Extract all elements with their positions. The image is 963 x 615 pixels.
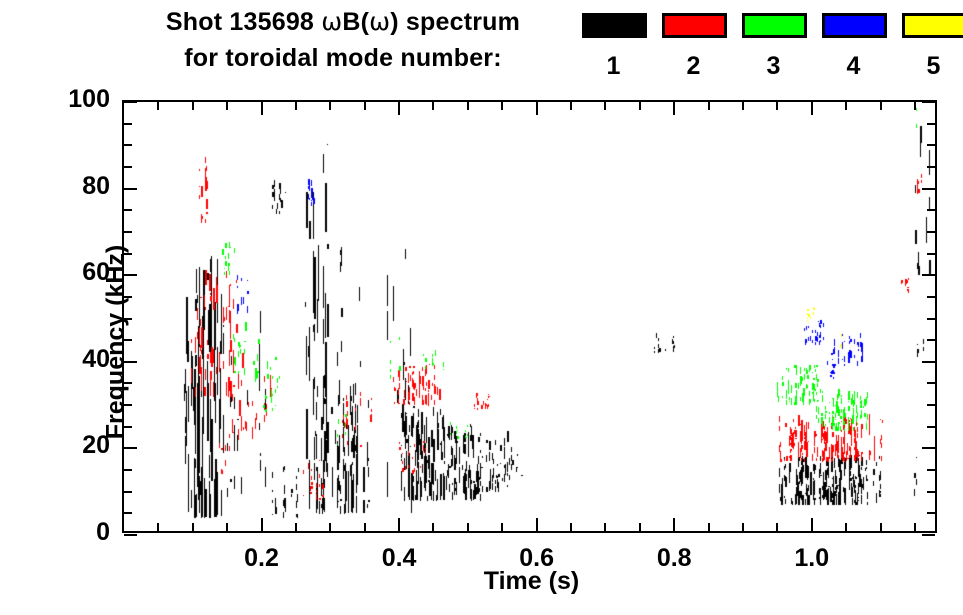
- y-tick-95: [124, 123, 132, 125]
- x-tick-0.5: [467, 523, 469, 531]
- y-tick-right-50: [927, 318, 935, 320]
- x-tick-0.15: [226, 523, 228, 531]
- y-tick-right-25: [927, 426, 935, 428]
- x-tick-top-0.9: [742, 102, 744, 110]
- legend-item-4: 4: [822, 13, 885, 81]
- title-line-2: for toroidal mode number:: [108, 40, 578, 76]
- x-tick-top-0.45: [432, 102, 434, 110]
- y-tick-label-0: 0: [20, 518, 110, 547]
- plot-area: [124, 102, 935, 531]
- title-spectrum-text: ) spectrum: [390, 8, 520, 36]
- omega-symbol-2: ω: [369, 7, 390, 36]
- figure-title: Shot 135698 ωB(ω) spectrum for toroidal …: [108, 4, 578, 76]
- x-tick-top-1.05: [845, 102, 847, 110]
- y-tick-85: [124, 166, 132, 168]
- y-tick-label-60: 60: [20, 258, 110, 287]
- spectrogram-figure: Shot 135698 ωB(ω) spectrum for toroidal …: [0, 0, 963, 615]
- y-tick-right-80: [922, 188, 935, 190]
- x-tick-top-0.05: [157, 102, 159, 110]
- legend-swatch-3: [742, 13, 807, 38]
- x-tick-top-0.3: [329, 102, 331, 110]
- x-tick-0.7: [604, 523, 606, 531]
- y-tick-15: [124, 469, 132, 471]
- y-tick-right-15: [927, 469, 935, 471]
- y-tick-right-95: [927, 123, 935, 125]
- legend-swatch-2: [662, 13, 727, 38]
- x-tick-top-0.4: [398, 102, 400, 115]
- legend-item-3: 3: [742, 13, 805, 81]
- x-tick-top-0.75: [639, 102, 641, 110]
- x-tick-top-0.8: [673, 102, 675, 115]
- mode-number-legend: 12345: [582, 13, 963, 81]
- x-tick-top-0.25: [295, 102, 297, 110]
- y-tick-80: [124, 188, 137, 190]
- x-tick-top-0.15: [226, 102, 228, 110]
- x-tick-top-0.55: [501, 102, 503, 110]
- y-tick-75: [124, 209, 132, 211]
- x-tick-0.95: [776, 523, 778, 531]
- x-tick-top-0.1: [192, 102, 194, 110]
- x-tick-0.6: [536, 518, 538, 531]
- legend-label-2: 2: [662, 52, 725, 81]
- y-tick-right-0: [922, 534, 935, 536]
- x-tick-top-0.2: [261, 102, 263, 115]
- y-tick-right-75: [927, 209, 935, 211]
- y-tick-right-20: [922, 447, 935, 449]
- y-tick-right-40: [922, 361, 935, 363]
- legend-swatch-5: [902, 13, 963, 38]
- x-tick-0.35: [364, 523, 366, 531]
- x-tick-0.8: [673, 518, 675, 531]
- x-tick-0.9: [742, 523, 744, 531]
- x-tick-top-1.1: [880, 102, 882, 110]
- x-tick-top-0.85: [708, 102, 710, 110]
- x-tick-0.4: [398, 518, 400, 531]
- x-tick-top-1: [811, 102, 813, 115]
- x-tick-0.75: [639, 523, 641, 531]
- spectrogram-canvas: [124, 102, 935, 531]
- x-tick-top-0.5: [467, 102, 469, 110]
- legend-label-4: 4: [822, 52, 885, 81]
- legend-label-3: 3: [742, 52, 805, 81]
- y-tick-right-100: [922, 101, 935, 103]
- x-tick-0.25: [295, 523, 297, 531]
- x-tick-0.2: [261, 518, 263, 531]
- y-tick-100: [124, 101, 137, 103]
- y-tick-10: [124, 491, 132, 493]
- title-line-1: Shot 135698 ωB(ω) spectrum: [108, 4, 578, 40]
- x-tick-top-0.6: [536, 102, 538, 115]
- legend-swatch-1: [582, 13, 647, 38]
- x-tick-0.85: [708, 523, 710, 531]
- x-tick-0.3: [329, 523, 331, 531]
- x-tick-1.1: [880, 523, 882, 531]
- title-b-text: B(: [342, 8, 369, 36]
- y-tick-0: [124, 534, 137, 536]
- x-tick-top-0.35: [364, 102, 366, 110]
- x-tick-0.55: [501, 523, 503, 531]
- y-tick-label-100: 100: [20, 85, 110, 114]
- x-tick-top-0.7: [604, 102, 606, 110]
- omega-symbol: ω: [321, 7, 342, 36]
- y-tick-right-60: [922, 274, 935, 276]
- x-axis-title: Time (s): [124, 567, 939, 596]
- y-tick-right-30: [927, 404, 935, 406]
- x-tick-top-0.95: [776, 102, 778, 110]
- y-tick-right-70: [927, 231, 935, 233]
- legend-swatch-4: [822, 13, 887, 38]
- y-tick-20: [124, 447, 137, 449]
- x-tick-1.05: [845, 523, 847, 531]
- legend-label-1: 1: [582, 52, 645, 81]
- legend-label-5: 5: [902, 52, 963, 81]
- y-tick-70: [124, 231, 132, 233]
- y-tick-right-90: [927, 144, 935, 146]
- x-tick-1: [811, 518, 813, 531]
- x-tick-0.05: [157, 523, 159, 531]
- y-tick-label-20: 20: [20, 431, 110, 460]
- y-tick-right-85: [927, 166, 935, 168]
- legend-item-1: 1: [582, 13, 645, 81]
- y-tick-5: [124, 512, 132, 514]
- y-tick-label-40: 40: [20, 345, 110, 374]
- x-tick-0.65: [570, 523, 572, 531]
- y-axis-title: Frequency (kHz): [102, 245, 131, 439]
- plot-frame: 020406080100 0.20.40.60.81.0 Frequency (…: [122, 100, 937, 533]
- y-tick-right-35: [927, 382, 935, 384]
- x-tick-1.15: [914, 523, 916, 531]
- x-tick-top-0.65: [570, 102, 572, 110]
- x-tick-0.45: [432, 523, 434, 531]
- y-tick-right-10: [927, 491, 935, 493]
- legend-item-5: 5: [902, 13, 963, 81]
- y-tick-right-5: [927, 512, 935, 514]
- y-tick-right-55: [927, 296, 935, 298]
- legend-item-2: 2: [662, 13, 725, 81]
- y-tick-label-80: 80: [20, 172, 110, 201]
- x-tick-top-1.15: [914, 102, 916, 110]
- y-tick-right-45: [927, 339, 935, 341]
- x-tick-0.1: [192, 523, 194, 531]
- y-tick-right-65: [927, 253, 935, 255]
- y-tick-90: [124, 144, 132, 146]
- title-shot-text: Shot 135698: [166, 8, 321, 36]
